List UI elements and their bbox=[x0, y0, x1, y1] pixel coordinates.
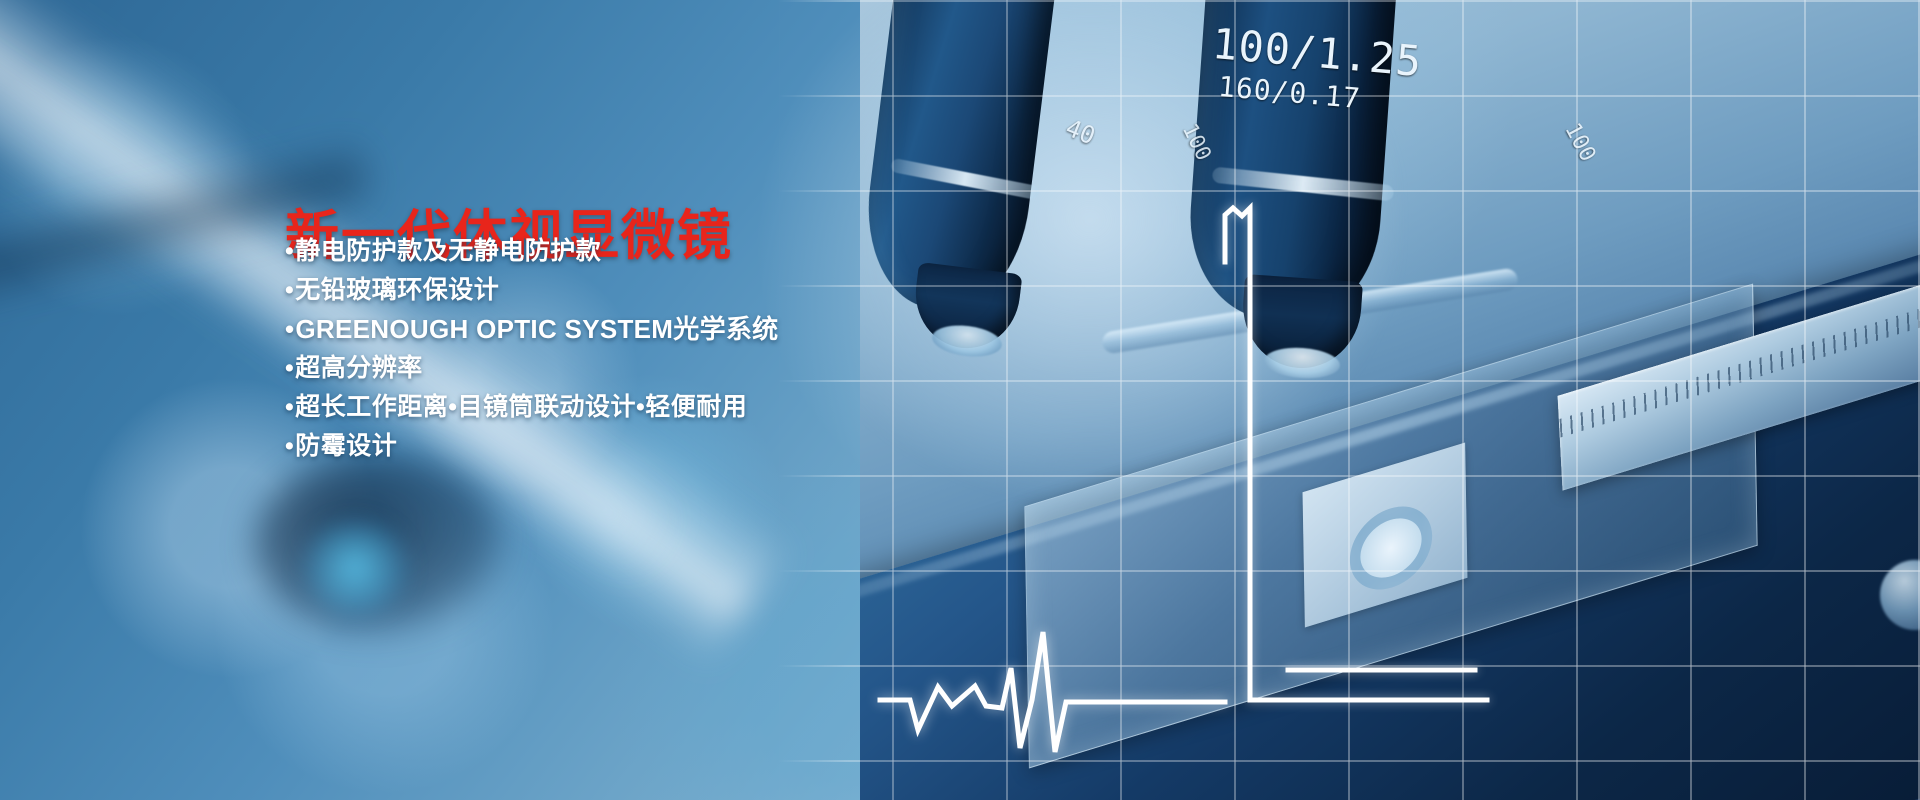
bullet-icon: • bbox=[285, 393, 294, 421]
bullet-icon: • bbox=[285, 237, 294, 265]
list-item: •超高分辨率 bbox=[285, 349, 1065, 388]
list-item-label: GREENOUGH OPTIC SYSTEM光学系统 bbox=[295, 314, 778, 344]
list-item-label: 超长工作距离•目镜筒联动设计•轻便耐用 bbox=[295, 393, 747, 421]
bullet-icon: • bbox=[285, 354, 294, 382]
list-item-label: 无铅玻璃环保设计 bbox=[295, 276, 499, 304]
list-item: •静电防护款及无静电防护款 bbox=[285, 232, 1065, 271]
list-item: •无铅玻璃环保设计 bbox=[285, 271, 1065, 310]
list-item: •防霉设计 bbox=[285, 427, 1065, 466]
banner-content: 新一代体视显微镜 •静电防护款及无静电防护款 •无铅玻璃环保设计 •GREENO… bbox=[0, 0, 1920, 800]
list-item-label: 超高分辨率 bbox=[295, 354, 423, 382]
feature-list: •静电防护款及无静电防护款 •无铅玻璃环保设计 •GREENOUGH OPTIC… bbox=[285, 232, 1065, 466]
list-item: •GREENOUGH OPTIC SYSTEM光学系统 bbox=[285, 310, 1065, 349]
bullet-icon: • bbox=[285, 432, 294, 460]
list-item-label: 静电防护款及无静电防护款 bbox=[295, 237, 601, 265]
list-item: •超长工作距离•目镜筒联动设计•轻便耐用 bbox=[285, 388, 1065, 427]
product-banner: 100/1.25 160/0.17 40 100 100 新一代体视显微镜 •静… bbox=[0, 0, 1920, 800]
bullet-icon: • bbox=[285, 314, 294, 344]
list-item-label: 防霉设计 bbox=[295, 432, 397, 460]
bullet-icon: • bbox=[285, 276, 294, 304]
